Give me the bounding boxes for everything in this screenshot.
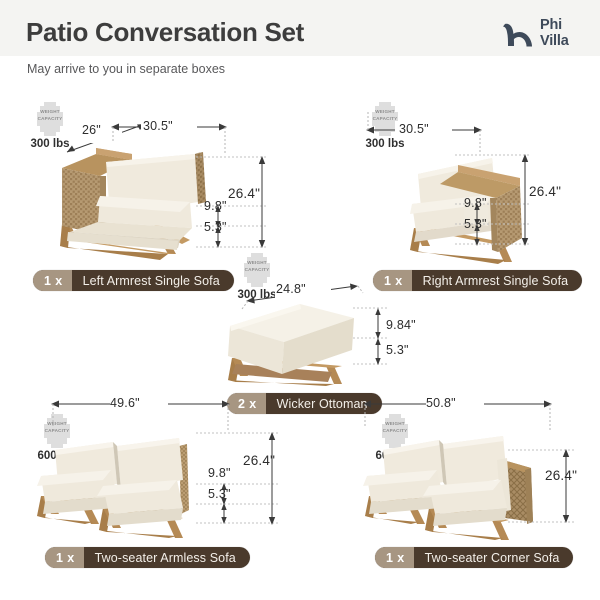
product-qty: 1 x	[45, 547, 84, 568]
dimension-seat-height-label: 5.3"	[204, 220, 227, 234]
dimension-width-label: 24.8"	[276, 282, 306, 296]
dimension-seat-height-label: 5.3"	[464, 217, 487, 231]
weight-badge-line2: CAPACITY	[240, 267, 274, 274]
product-qty: 1 x	[375, 547, 414, 568]
product-label-two-seater-corner-sofa[interactable]: 1 x Two-seater Corner Sofa	[375, 547, 573, 568]
dimension-height-label: 26.4"	[529, 184, 561, 199]
dimension-depth-label: 26"	[82, 123, 101, 137]
product-qty: 1 x	[33, 270, 72, 291]
dimension-49-6-line	[48, 392, 233, 416]
dimension-seat-height-label: 5.3"	[208, 487, 231, 501]
dimension-height-label: 26.4"	[545, 468, 577, 483]
product-two-seater-corner-sofa: WEIGHT CAPACITY 600 lbs	[300, 300, 600, 600]
product-label-two-seater-armless-sofa[interactable]: 1 x Two-seater Armless Sofa	[45, 547, 250, 568]
dimension-width-label: 30.5"	[143, 119, 173, 133]
product-name: Two-seater Armless Sofa	[84, 547, 250, 568]
dimension-height-label: 26.4"	[228, 186, 260, 201]
product-name: Right Armrest Single Sofa	[412, 270, 583, 291]
dimension-vertical-26-4	[508, 445, 578, 527]
dimension-back-height-label: 9.8"	[204, 199, 227, 213]
dimension-height-label: 26.4"	[243, 453, 275, 468]
dimension-width-label: 30.5"	[399, 122, 429, 136]
product-two-seater-armless-sofa: WEIGHT CAPACITY 600 lbs	[0, 300, 300, 600]
dimension-back-height-label: 9.8"	[208, 466, 231, 480]
product-label-left-armrest-single-sofa[interactable]: 1 x Left Armrest Single Sofa	[33, 270, 234, 291]
dimension-50-8-line	[360, 390, 555, 416]
product-spec-sheet: Patio Conversation Set May arrive to you…	[0, 0, 600, 600]
dimension-width-label: 50.8"	[426, 396, 456, 410]
product-name: Two-seater Corner Sofa	[414, 547, 574, 568]
dimension-width-label: 49.6"	[110, 396, 140, 410]
dimension-back-height-label: 9.8"	[464, 196, 487, 210]
